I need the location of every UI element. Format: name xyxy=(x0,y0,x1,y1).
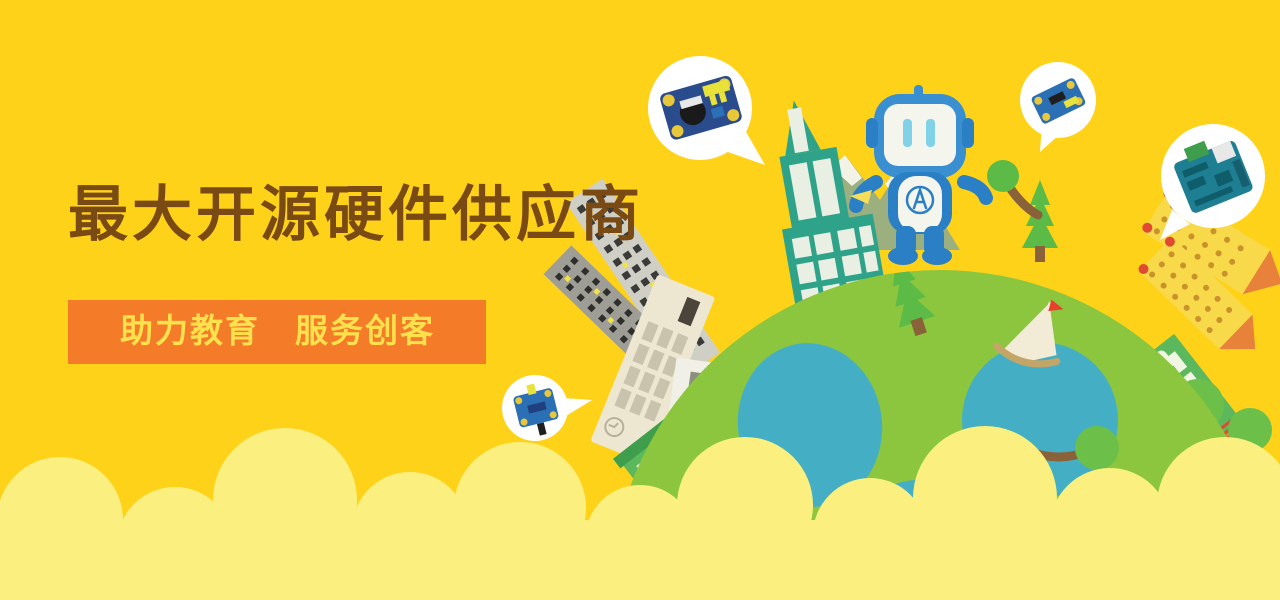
subtitle-text: 助力教育 服务创客 xyxy=(120,312,456,350)
hero-banner: 最大开源硬件供应商 助力教育 服务创客 xyxy=(0,0,1280,600)
text-block: 最大开源硬件供应商 助力教育 服务创客 xyxy=(68,185,644,364)
subtitle-banner: 助力教育 服务创客 xyxy=(68,300,486,364)
page-title: 最大开源硬件供应商 xyxy=(68,185,644,245)
